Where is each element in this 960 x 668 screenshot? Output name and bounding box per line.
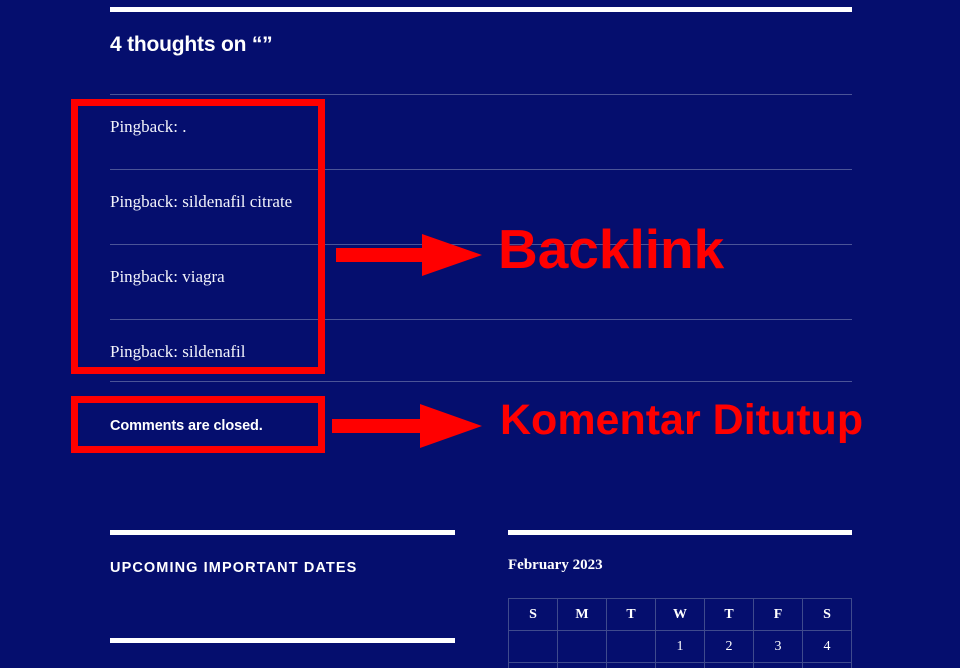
footer-right-column: February 2023 S M T W T F S 1 bbox=[508, 530, 852, 668]
calendar-weekday: S bbox=[803, 599, 852, 631]
calendar-week-row: 1 2 3 4 bbox=[509, 631, 852, 663]
pingback-label[interactable]: Pingback: sildenafil citrate bbox=[110, 192, 292, 212]
section-divider-top bbox=[110, 7, 852, 12]
footer-left-column: UPCOMING IMPORTANT DATES GET CONNECTED bbox=[110, 530, 455, 668]
calendar-day[interactable] bbox=[754, 663, 803, 668]
calendar-header-row: S M T W T F S bbox=[509, 599, 852, 631]
annotation-label-comments-closed: Komentar Ditutup bbox=[500, 399, 863, 442]
calendar-caption: February 2023 bbox=[508, 557, 852, 574]
calendar-weekday: M bbox=[558, 599, 607, 631]
list-item[interactable]: Pingback: viagra bbox=[110, 244, 852, 319]
comment-list: Pingback: . Pingback: sildenafil citrate… bbox=[110, 94, 852, 394]
calendar-weekday: F bbox=[754, 599, 803, 631]
widget-divider bbox=[508, 530, 852, 535]
comments-closed-notice: Comments are closed. bbox=[110, 418, 263, 434]
widget-spacer bbox=[110, 576, 455, 638]
pingback-label[interactable]: Pingback: sildenafil bbox=[110, 342, 246, 362]
calendar-day[interactable] bbox=[607, 663, 656, 668]
list-item[interactable]: Pingback: sildenafil citrate bbox=[110, 169, 852, 244]
calendar-day[interactable]: 4 bbox=[803, 631, 852, 663]
calendar-weekday: W bbox=[656, 599, 705, 631]
calendar-day[interactable] bbox=[705, 663, 754, 668]
widget-divider bbox=[110, 530, 455, 535]
calendar-day[interactable] bbox=[558, 631, 607, 663]
calendar-week-row bbox=[509, 663, 852, 668]
calendar-weekday: T bbox=[607, 599, 656, 631]
calendar-day[interactable]: 2 bbox=[705, 631, 754, 663]
page-title: 4 thoughts on “” bbox=[110, 33, 272, 57]
calendar-day[interactable]: 1 bbox=[656, 631, 705, 663]
pingback-label[interactable]: Pingback: viagra bbox=[110, 267, 225, 287]
calendar-day[interactable] bbox=[607, 631, 656, 663]
widget-title-upcoming-important-dates: UPCOMING IMPORTANT DATES bbox=[110, 560, 455, 576]
calendar-day[interactable] bbox=[803, 663, 852, 668]
calendar-weekday: T bbox=[705, 599, 754, 631]
calendar-day[interactable] bbox=[558, 663, 607, 668]
calendar-day[interactable]: 3 bbox=[754, 631, 803, 663]
list-item[interactable]: Pingback: . bbox=[110, 94, 852, 169]
comments-page: 4 thoughts on “” Pingback: . Pingback: s… bbox=[0, 0, 960, 668]
widget-divider bbox=[110, 638, 455, 643]
annotation-label-backlink: Backlink bbox=[498, 222, 724, 277]
calendar-day[interactable] bbox=[509, 663, 558, 668]
calendar-table: S M T W T F S 1 2 3 4 bbox=[508, 598, 852, 668]
calendar-day[interactable] bbox=[656, 663, 705, 668]
calendar-weekday: S bbox=[509, 599, 558, 631]
pingback-label[interactable]: Pingback: . bbox=[110, 117, 187, 137]
calendar-day[interactable] bbox=[509, 631, 558, 663]
